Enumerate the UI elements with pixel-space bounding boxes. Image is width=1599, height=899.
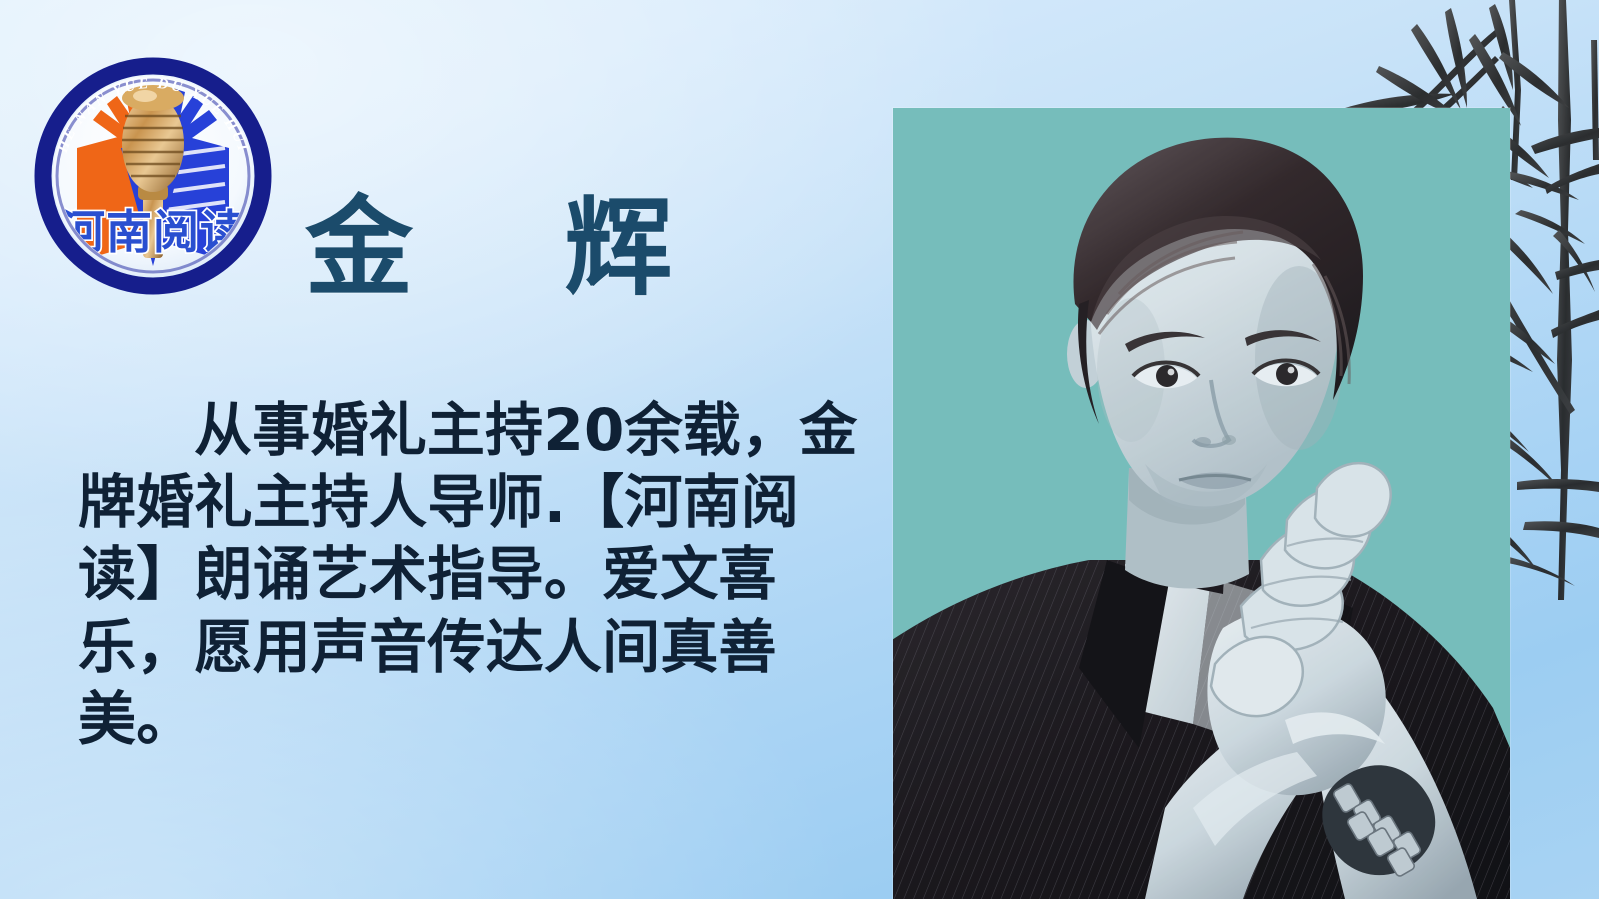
henan-reading-society-logo: 河南阅读 HE NAN YUE DU XUE HUI — [33, 52, 273, 295]
poster-canvas: 河南阅读 HE NAN YUE DU XUE HUI 金 辉 从事婚礼主持20余… — [0, 0, 1599, 899]
host-portrait-photo — [893, 108, 1510, 899]
bio-paragraph: 从事婚礼主持20余载，金牌婚礼主持人导师.【河南阅读】朗诵艺术指导。爱文喜乐，愿… — [78, 394, 858, 755]
page-title: 金 辉 — [305, 196, 705, 304]
